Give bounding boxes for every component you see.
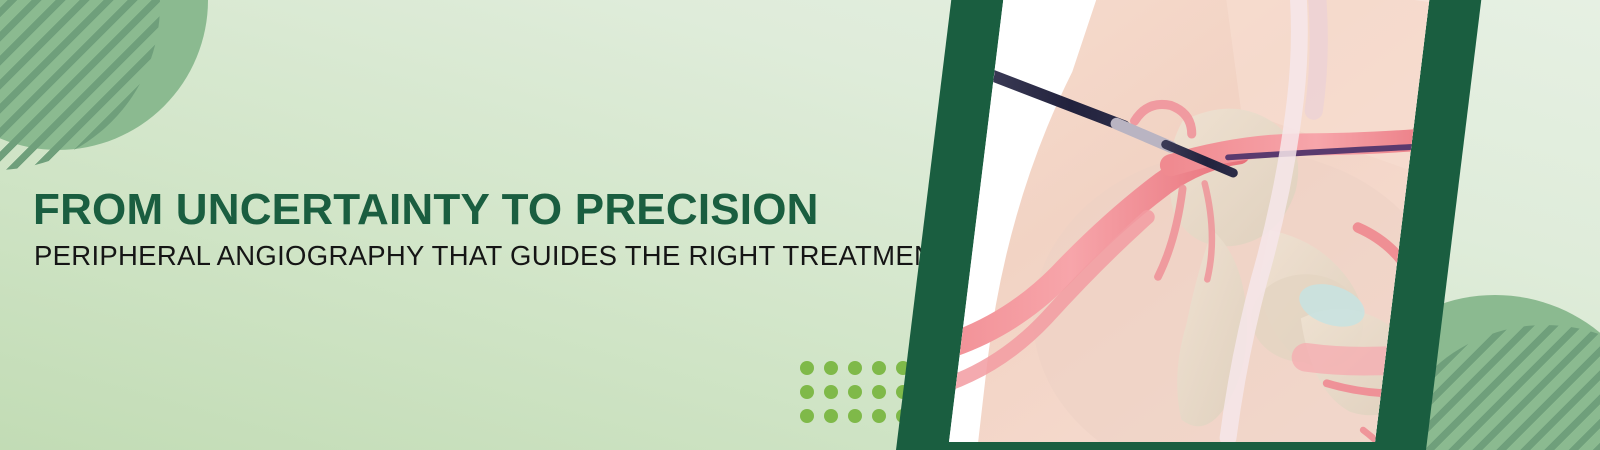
needle-end-cap-shape xyxy=(984,69,994,79)
grid-dot xyxy=(872,409,886,423)
grid-dot xyxy=(848,409,862,423)
grid-dot xyxy=(872,361,886,375)
grid-dot xyxy=(824,361,838,375)
grid-dot xyxy=(848,385,862,399)
image-frame-inner xyxy=(949,0,1429,442)
lower-vessel-shape xyxy=(1306,357,1423,361)
grid-dot xyxy=(800,361,814,375)
angiography-illustration xyxy=(949,0,1429,442)
grid-dot xyxy=(824,409,838,423)
banner-text-block: FROM UNCERTAINTY TO PRECISION PERIPHERAL… xyxy=(33,186,973,272)
banner-headline: FROM UNCERTAINTY TO PRECISION xyxy=(33,186,973,234)
banner-subheadline: PERIPHERAL ANGIOGRAPHY THAT GUIDES THE R… xyxy=(34,240,973,272)
grid-dot xyxy=(824,385,838,399)
angiography-illustration-svg xyxy=(949,0,1429,442)
grid-dot xyxy=(800,409,814,423)
grid-dot xyxy=(848,361,862,375)
top-left-solid-circle-decoration xyxy=(0,0,208,150)
promotional-banner: FROM UNCERTAINTY TO PRECISION PERIPHERAL… xyxy=(0,0,1600,450)
grid-dot xyxy=(800,385,814,399)
top-left-striped-circle-decoration xyxy=(0,0,160,170)
image-frame xyxy=(895,0,1482,450)
grid-dot xyxy=(872,385,886,399)
